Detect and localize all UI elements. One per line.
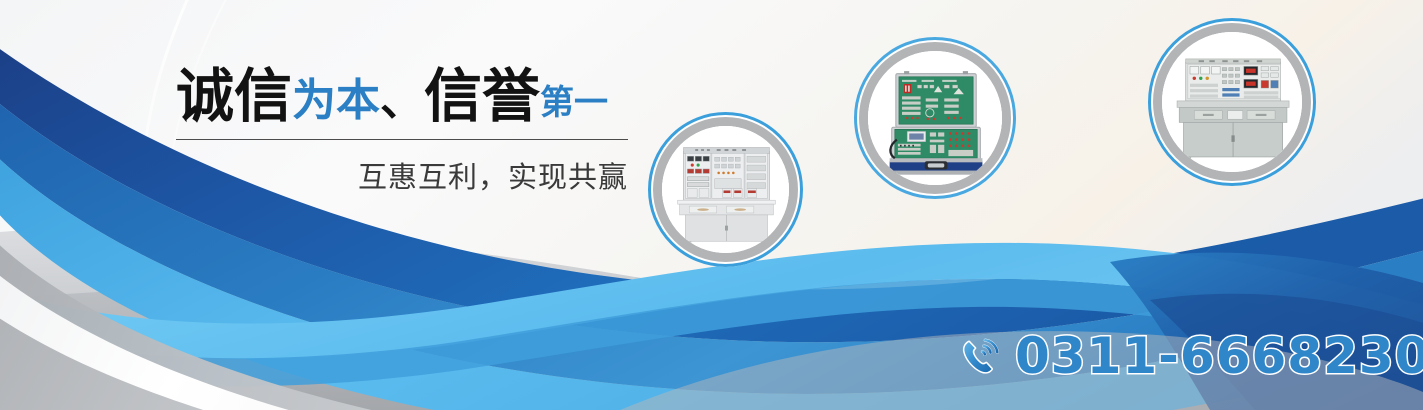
main-title: 诚信 为本 、 信誉 第一	[176, 68, 628, 130]
title-part-3: 信誉	[424, 68, 540, 126]
product-circle-1[interactable]	[648, 112, 803, 267]
product-circle-2[interactable]	[854, 37, 1016, 199]
slogan-block: 诚信 为本 、 信誉 第一 互惠互利，实现共赢	[176, 68, 628, 196]
title-part-2: 为本	[292, 79, 380, 123]
product-photo-2	[868, 51, 1002, 185]
subtitle: 互惠互利，实现共赢	[176, 154, 628, 196]
title-part-1: 诚信	[176, 68, 292, 126]
title-part-4: 第一	[540, 86, 608, 120]
product-photo-3	[1162, 32, 1302, 172]
phone-number: 0311-66682303	[1015, 327, 1423, 385]
product-photo-1	[662, 126, 789, 253]
phone-call-icon	[957, 333, 1003, 379]
title-separator: 、	[380, 79, 424, 123]
product-circle-3[interactable]	[1148, 18, 1316, 186]
title-divider	[176, 139, 628, 140]
promo-banner: 诚信 为本 、 信誉 第一 互惠互利，实现共赢	[0, 0, 1423, 410]
contact-phone[interactable]: 0311-66682303	[957, 327, 1423, 385]
